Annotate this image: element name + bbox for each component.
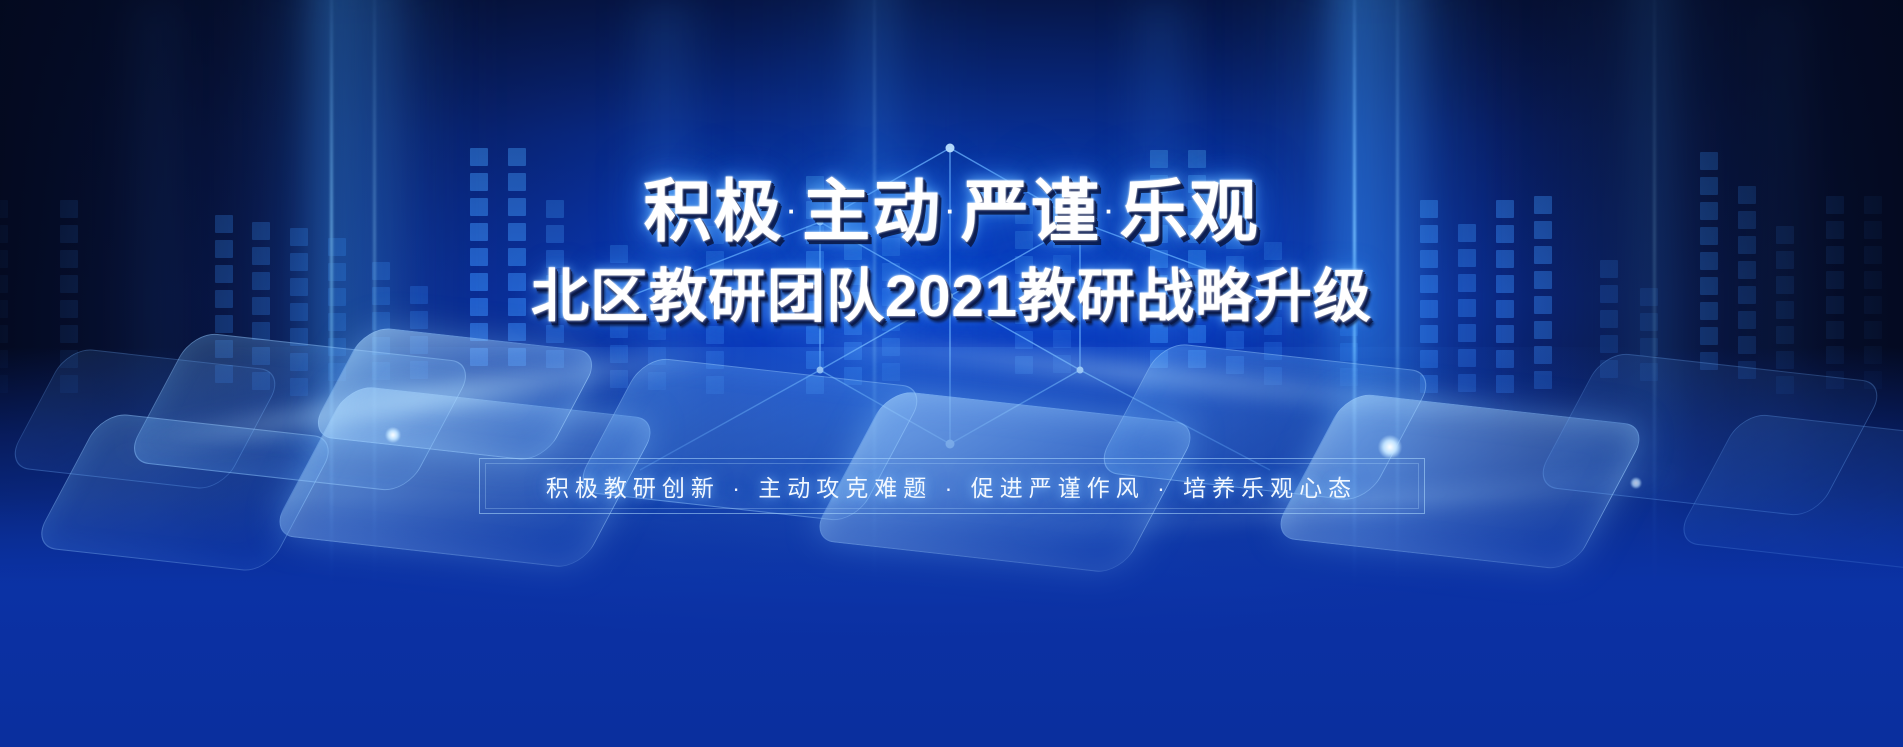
tagline-text: 积极教研创新 · 主动攻克难题 · 促进严谨作风 · 培养乐观心态	[479, 458, 1425, 514]
floor-haze	[0, 497, 1903, 747]
glow-dot	[385, 427, 401, 443]
headline-part-4: 乐观	[1120, 174, 1260, 250]
glow-dot	[1378, 435, 1402, 459]
headline-separator-2: ·	[946, 196, 957, 226]
headline-separator-1: ·	[787, 196, 798, 226]
headline-part-3: 严谨	[961, 174, 1101, 250]
headline-part-2: 主动	[802, 174, 942, 250]
headline-part-1: 积极	[643, 174, 783, 250]
tagline-bar: 积极教研创新 · 主动攻克难题 · 促进严谨作风 · 培养乐观心态	[479, 458, 1425, 514]
banner-canvas: 积极·主动·严谨·乐观 北区教研团队2021教研战略升级 积极教研创新 · 主动…	[0, 0, 1903, 747]
headline-separator-3: ·	[1105, 196, 1116, 226]
headline-primary: 积极·主动·严谨·乐观	[0, 178, 1903, 246]
headline-block: 积极·主动·严谨·乐观 北区教研团队2021教研战略升级	[0, 178, 1903, 326]
glow-dot	[1630, 477, 1642, 489]
headline-secondary: 北区教研团队2021教研战略升级	[0, 268, 1903, 326]
